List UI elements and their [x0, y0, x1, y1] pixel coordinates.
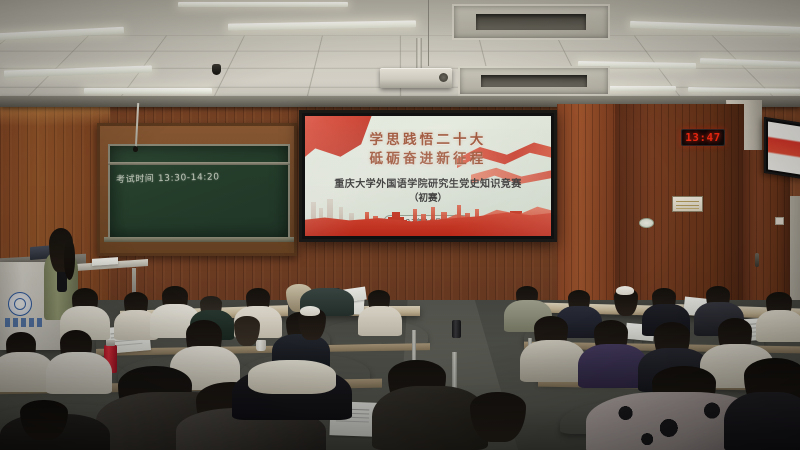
clock-time: 13:47 [685, 131, 721, 144]
projector-lens-icon [439, 73, 448, 82]
ceiling [0, 0, 800, 108]
university-emblem-icon [8, 292, 32, 316]
wood-pier [557, 104, 615, 306]
projector-cable [428, 0, 429, 66]
wood-grain-texture [557, 104, 615, 306]
university-name-plate [5, 318, 45, 327]
student-top [520, 340, 586, 382]
projector [380, 68, 452, 88]
slide-title-line1: 学思践悟二十大 [305, 131, 551, 150]
air-conditioning-vent [458, 66, 610, 96]
student-top [46, 352, 112, 394]
cityscape-graphic [305, 196, 551, 236]
presentation-slide: 学思践悟二十大 砥砺奋进新征程 重庆大学外国语学院研究生党史知识竞赛 （初赛） … [305, 116, 551, 236]
slide-subtitle-line1: 重庆大学外国语学院研究生党史知识竞赛 [315, 178, 541, 192]
wall-clock: 13:47 [681, 129, 725, 146]
ceiling-light [178, 2, 348, 7]
student-hair [470, 392, 526, 442]
hair-bow-icon [300, 306, 320, 316]
student-hair [234, 316, 260, 346]
student-hair [20, 400, 68, 440]
air-conditioning-vent [452, 4, 610, 40]
lecturer-hair-strand [64, 240, 75, 280]
door-handle[interactable] [755, 253, 759, 267]
hair-bow-icon [616, 286, 634, 295]
student-top [756, 310, 800, 342]
door-sticker-icon [639, 218, 654, 228]
lecture-hall-photo: 13:47 考试时间 13:30-14:20 学思践悟二十大 砥砺奋进新征程 重… [0, 0, 800, 450]
desk-leg [412, 330, 416, 360]
notice-lines [676, 201, 699, 202]
student-top [358, 306, 402, 336]
chalkboard-rail [108, 162, 290, 165]
ceiling-light [84, 88, 212, 94]
dark-water-bottle [452, 320, 461, 338]
chalk-tray [104, 237, 294, 242]
ceiling-light [228, 20, 416, 30]
cream-scarf [248, 360, 336, 394]
slide-title-line2: 砥砺奋进新征程 [305, 150, 551, 169]
chalkboard: 考试时间 13:30-14:20 [97, 123, 297, 256]
ceiling-camera-icon [212, 64, 221, 75]
student-jacket [724, 392, 800, 450]
ceiling-light [630, 21, 800, 34]
cup [256, 340, 266, 351]
projection-screen: 学思践悟二十大 砥砺奋进新征程 重庆大学外国语学院研究生党史知识竞赛 （初赛） … [299, 110, 557, 242]
chalkboard-surface [108, 144, 290, 239]
pointer-tip [133, 146, 138, 152]
wall-mounted-display [764, 117, 800, 179]
display-screen-content [768, 121, 800, 174]
wall-outlet-icon [775, 217, 784, 225]
framed-notice [672, 196, 703, 212]
projector-mount-rod [416, 38, 422, 70]
slide-title: 学思践悟二十大 砥砺奋进新征程 [305, 131, 551, 169]
